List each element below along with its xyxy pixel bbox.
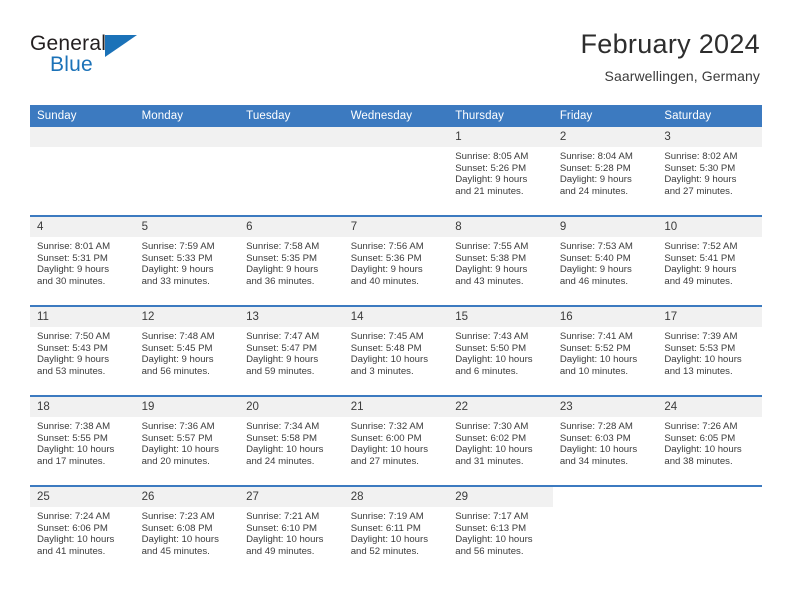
day-number (30, 127, 135, 147)
day-detail-line: Sunrise: 7:32 AM (351, 421, 443, 433)
calendar-day-cell-empty (135, 127, 240, 215)
day-detail-line: Sunset: 5:57 PM (142, 433, 234, 445)
day-number: 9 (553, 217, 658, 237)
calendar-day-cell-empty (239, 127, 344, 215)
calendar-cell (657, 486, 762, 575)
day-details: Sunrise: 7:53 AMSunset: 5:40 PMDaylight:… (553, 237, 658, 287)
day-number: 12 (135, 307, 240, 327)
calendar-cell: 24Sunrise: 7:26 AMSunset: 6:05 PMDayligh… (657, 396, 762, 486)
weekday-header-saturday: Saturday (657, 105, 762, 127)
day-detail-line: and 40 minutes. (351, 276, 443, 288)
day-detail-line: Sunrise: 7:19 AM (351, 511, 443, 523)
title-block: February 2024 Saarwellingen, Germany (580, 28, 760, 86)
day-details: Sunrise: 7:39 AMSunset: 5:53 PMDaylight:… (657, 327, 762, 377)
day-detail-line: Sunset: 6:03 PM (560, 433, 652, 445)
calendar-week-row: 11Sunrise: 7:50 AMSunset: 5:43 PMDayligh… (30, 306, 762, 396)
day-detail-line: and 49 minutes. (664, 276, 756, 288)
day-detail-line: and 27 minutes. (351, 456, 443, 468)
calendar-cell: 2Sunrise: 8:04 AMSunset: 5:28 PMDaylight… (553, 127, 658, 216)
day-details: Sunrise: 7:48 AMSunset: 5:45 PMDaylight:… (135, 327, 240, 377)
calendar-day-cell[interactable]: 8Sunrise: 7:55 AMSunset: 5:38 PMDaylight… (448, 217, 553, 305)
calendar-cell: 23Sunrise: 7:28 AMSunset: 6:03 PMDayligh… (553, 396, 658, 486)
day-detail-line: Daylight: 10 hours (246, 534, 338, 546)
day-detail-line: Daylight: 10 hours (664, 354, 756, 366)
day-number (135, 127, 240, 147)
calendar-cell: 6Sunrise: 7:58 AMSunset: 5:35 PMDaylight… (239, 216, 344, 306)
day-detail-line: Daylight: 10 hours (142, 444, 234, 456)
day-number: 11 (30, 307, 135, 327)
day-number: 22 (448, 397, 553, 417)
calendar-cell: 16Sunrise: 7:41 AMSunset: 5:52 PMDayligh… (553, 306, 658, 396)
day-detail-line: Daylight: 10 hours (560, 444, 652, 456)
calendar-header-row: SundayMondayTuesdayWednesdayThursdayFrid… (30, 105, 762, 127)
day-detail-line: Sunset: 6:02 PM (455, 433, 547, 445)
day-detail-line: Sunrise: 7:48 AM (142, 331, 234, 343)
day-details: Sunrise: 7:52 AMSunset: 5:41 PMDaylight:… (657, 237, 762, 287)
weekday-header-wednesday: Wednesday (344, 105, 449, 127)
day-detail-line: Sunrise: 7:38 AM (37, 421, 129, 433)
day-detail-line: Sunset: 6:08 PM (142, 523, 234, 535)
calendar-cell: 9Sunrise: 7:53 AMSunset: 5:40 PMDaylight… (553, 216, 658, 306)
calendar-day-cell[interactable]: 7Sunrise: 7:56 AMSunset: 5:36 PMDaylight… (344, 217, 449, 305)
day-number-blank (553, 487, 658, 507)
day-detail-line: Sunset: 6:11 PM (351, 523, 443, 535)
day-detail-line: Sunrise: 7:43 AM (455, 331, 547, 343)
day-detail-line: Daylight: 10 hours (142, 534, 234, 546)
brand-logo[interactable]: General Blue (30, 32, 140, 88)
calendar-day-cell[interactable]: 23Sunrise: 7:28 AMSunset: 6:03 PMDayligh… (553, 397, 658, 485)
day-detail-line: and 13 minutes. (664, 366, 756, 378)
day-number: 4 (30, 217, 135, 237)
day-detail-line: Sunset: 5:35 PM (246, 253, 338, 265)
day-detail-line: Daylight: 10 hours (455, 534, 547, 546)
day-detail-line: Daylight: 9 hours (455, 264, 547, 276)
day-number: 24 (657, 397, 762, 417)
page-subtitle: Saarwellingen, Germany (580, 66, 760, 86)
day-detail-line: Daylight: 9 hours (37, 264, 129, 276)
day-detail-line: and 59 minutes. (246, 366, 338, 378)
day-details: Sunrise: 7:59 AMSunset: 5:33 PMDaylight:… (135, 237, 240, 287)
day-detail-line: Sunset: 5:31 PM (37, 253, 129, 265)
calendar-day-cell-empty (344, 127, 449, 215)
day-detail-line: Daylight: 9 hours (246, 354, 338, 366)
calendar-day-cell[interactable]: 1Sunrise: 8:05 AMSunset: 5:26 PMDaylight… (448, 127, 553, 215)
calendar-cell: 26Sunrise: 7:23 AMSunset: 6:08 PMDayligh… (135, 486, 240, 575)
day-detail-line: Sunrise: 7:26 AM (664, 421, 756, 433)
day-details: Sunrise: 7:26 AMSunset: 6:05 PMDaylight:… (657, 417, 762, 467)
day-number: 6 (239, 217, 344, 237)
day-detail-line: Sunrise: 7:17 AM (455, 511, 547, 523)
day-number: 5 (135, 217, 240, 237)
calendar-day-cell[interactable]: 21Sunrise: 7:32 AMSunset: 6:00 PMDayligh… (344, 397, 449, 485)
day-details: Sunrise: 7:45 AMSunset: 5:48 PMDaylight:… (344, 327, 449, 377)
calendar-day-cell[interactable]: 16Sunrise: 7:41 AMSunset: 5:52 PMDayligh… (553, 307, 658, 395)
calendar-day-cell-empty (30, 127, 135, 215)
day-detail-line: Sunset: 6:13 PM (455, 523, 547, 535)
calendar-day-cell[interactable]: 4Sunrise: 8:01 AMSunset: 5:31 PMDaylight… (30, 217, 135, 305)
day-number: 25 (30, 487, 135, 507)
day-detail-line: and 49 minutes. (246, 546, 338, 558)
calendar-cell: 28Sunrise: 7:19 AMSunset: 6:11 PMDayligh… (344, 486, 449, 575)
day-number (239, 127, 344, 147)
weekday-header-thursday: Thursday (448, 105, 553, 127)
day-detail-line: and 21 minutes. (455, 186, 547, 198)
page-title: February 2024 (580, 28, 760, 60)
day-detail-line: Sunrise: 7:52 AM (664, 241, 756, 253)
day-detail-line: Daylight: 9 hours (664, 264, 756, 276)
day-detail-line: Sunrise: 7:45 AM (351, 331, 443, 343)
day-detail-line: Sunset: 5:26 PM (455, 163, 547, 175)
day-details: Sunrise: 8:05 AMSunset: 5:26 PMDaylight:… (448, 147, 553, 197)
day-detail-line: Daylight: 9 hours (142, 354, 234, 366)
day-detail-line: and 24 minutes. (560, 186, 652, 198)
day-detail-line: and 27 minutes. (664, 186, 756, 198)
day-details: Sunrise: 7:36 AMSunset: 5:57 PMDaylight:… (135, 417, 240, 467)
calendar-cell: 22Sunrise: 7:30 AMSunset: 6:02 PMDayligh… (448, 396, 553, 486)
day-detail-line: Sunset: 5:36 PM (351, 253, 443, 265)
day-number: 7 (344, 217, 449, 237)
day-detail-line: Sunset: 6:05 PM (664, 433, 756, 445)
calendar-cell: 10Sunrise: 7:52 AMSunset: 5:41 PMDayligh… (657, 216, 762, 306)
day-details: Sunrise: 7:34 AMSunset: 5:58 PMDaylight:… (239, 417, 344, 467)
day-detail-line: Daylight: 10 hours (37, 444, 129, 456)
day-details: Sunrise: 8:01 AMSunset: 5:31 PMDaylight:… (30, 237, 135, 287)
day-detail-line: Sunset: 5:47 PM (246, 343, 338, 355)
day-detail-line: Sunrise: 7:23 AM (142, 511, 234, 523)
day-detail-line: Sunrise: 8:04 AM (560, 151, 652, 163)
day-detail-line: and 30 minutes. (37, 276, 129, 288)
calendar-day-cell[interactable]: 19Sunrise: 7:36 AMSunset: 5:57 PMDayligh… (135, 397, 240, 485)
calendar-day-cell-empty (657, 487, 762, 575)
calendar-cell: 18Sunrise: 7:38 AMSunset: 5:55 PMDayligh… (30, 396, 135, 486)
day-detail-line: and 56 minutes. (455, 546, 547, 558)
calendar-cell: 19Sunrise: 7:36 AMSunset: 5:57 PMDayligh… (135, 396, 240, 486)
weekday-header-friday: Friday (553, 105, 658, 127)
day-details: Sunrise: 7:55 AMSunset: 5:38 PMDaylight:… (448, 237, 553, 287)
day-detail-line: Sunrise: 7:53 AM (560, 241, 652, 253)
day-detail-line: Daylight: 10 hours (351, 354, 443, 366)
day-detail-line: Sunset: 5:45 PM (142, 343, 234, 355)
weekday-header-tuesday: Tuesday (239, 105, 344, 127)
calendar-cell: 29Sunrise: 7:17 AMSunset: 6:13 PMDayligh… (448, 486, 553, 575)
weekday-headers: SundayMondayTuesdayWednesdayThursdayFrid… (30, 105, 762, 127)
day-number: 3 (657, 127, 762, 147)
day-detail-line: Daylight: 9 hours (664, 174, 756, 186)
calendar-day-cell[interactable]: 13Sunrise: 7:47 AMSunset: 5:47 PMDayligh… (239, 307, 344, 395)
calendar-day-cell[interactable]: 29Sunrise: 7:17 AMSunset: 6:13 PMDayligh… (448, 487, 553, 575)
calendar-cell (344, 127, 449, 216)
day-detail-line: Daylight: 9 hours (455, 174, 547, 186)
day-number: 10 (657, 217, 762, 237)
calendar-body: 1Sunrise: 8:05 AMSunset: 5:26 PMDaylight… (30, 127, 762, 575)
day-details: Sunrise: 7:41 AMSunset: 5:52 PMDaylight:… (553, 327, 658, 377)
day-details: Sunrise: 7:24 AMSunset: 6:06 PMDaylight:… (30, 507, 135, 557)
day-detail-line: Sunrise: 7:21 AM (246, 511, 338, 523)
calendar-day-cell[interactable]: 25Sunrise: 7:24 AMSunset: 6:06 PMDayligh… (30, 487, 135, 575)
day-number: 16 (553, 307, 658, 327)
day-detail-line: and 43 minutes. (455, 276, 547, 288)
day-detail-line: Sunrise: 8:02 AM (664, 151, 756, 163)
day-details: Sunrise: 7:56 AMSunset: 5:36 PMDaylight:… (344, 237, 449, 287)
day-detail-line: Sunrise: 7:55 AM (455, 241, 547, 253)
day-number (344, 127, 449, 147)
day-details: Sunrise: 7:21 AMSunset: 6:10 PMDaylight:… (239, 507, 344, 557)
day-detail-line: Sunrise: 7:30 AM (455, 421, 547, 433)
day-detail-line: Sunset: 5:28 PM (560, 163, 652, 175)
day-detail-line: Sunset: 5:55 PM (37, 433, 129, 445)
day-details: Sunrise: 8:02 AMSunset: 5:30 PMDaylight:… (657, 147, 762, 197)
day-detail-line: Daylight: 9 hours (142, 264, 234, 276)
day-detail-line: and 36 minutes. (246, 276, 338, 288)
day-detail-line: and 45 minutes. (142, 546, 234, 558)
day-detail-line: Daylight: 9 hours (351, 264, 443, 276)
calendar-cell: 8Sunrise: 7:55 AMSunset: 5:38 PMDaylight… (448, 216, 553, 306)
calendar-week-row: 4Sunrise: 8:01 AMSunset: 5:31 PMDaylight… (30, 216, 762, 306)
calendar-day-cell[interactable]: 15Sunrise: 7:43 AMSunset: 5:50 PMDayligh… (448, 307, 553, 395)
day-details: Sunrise: 7:32 AMSunset: 6:00 PMDaylight:… (344, 417, 449, 467)
calendar-cell: 1Sunrise: 8:05 AMSunset: 5:26 PMDaylight… (448, 127, 553, 216)
day-details: Sunrise: 7:58 AMSunset: 5:35 PMDaylight:… (239, 237, 344, 287)
calendar-week-row: 18Sunrise: 7:38 AMSunset: 5:55 PMDayligh… (30, 396, 762, 486)
day-detail-line: Sunset: 5:43 PM (37, 343, 129, 355)
day-detail-line: and 6 minutes. (455, 366, 547, 378)
day-detail-line: Daylight: 9 hours (246, 264, 338, 276)
day-detail-line: and 56 minutes. (142, 366, 234, 378)
day-number: 1 (448, 127, 553, 147)
calendar-cell: 13Sunrise: 7:47 AMSunset: 5:47 PMDayligh… (239, 306, 344, 396)
calendar-cell: 11Sunrise: 7:50 AMSunset: 5:43 PMDayligh… (30, 306, 135, 396)
calendar-day-cell[interactable]: 22Sunrise: 7:30 AMSunset: 6:02 PMDayligh… (448, 397, 553, 485)
day-detail-line: Sunset: 5:50 PM (455, 343, 547, 355)
day-details: Sunrise: 7:23 AMSunset: 6:08 PMDaylight:… (135, 507, 240, 557)
calendar-day-cell[interactable]: 27Sunrise: 7:21 AMSunset: 6:10 PMDayligh… (239, 487, 344, 575)
day-detail-line: Sunrise: 7:39 AM (664, 331, 756, 343)
day-detail-line: Daylight: 10 hours (455, 444, 547, 456)
calendar-day-cell[interactable]: 17Sunrise: 7:39 AMSunset: 5:53 PMDayligh… (657, 307, 762, 395)
day-detail-line: and 53 minutes. (37, 366, 129, 378)
day-number: 2 (553, 127, 658, 147)
day-detail-line: Daylight: 9 hours (560, 264, 652, 276)
calendar-cell (239, 127, 344, 216)
day-details: Sunrise: 7:17 AMSunset: 6:13 PMDaylight:… (448, 507, 553, 557)
page-header: General Blue February 2024 Saarwellingen… (30, 28, 760, 96)
day-detail-line: Sunset: 5:53 PM (664, 343, 756, 355)
day-detail-line: and 17 minutes. (37, 456, 129, 468)
day-detail-line: Sunrise: 7:24 AM (37, 511, 129, 523)
day-detail-line: Daylight: 10 hours (351, 444, 443, 456)
day-number: 28 (344, 487, 449, 507)
day-detail-line: Sunset: 6:06 PM (37, 523, 129, 535)
calendar-day-cell[interactable]: 20Sunrise: 7:34 AMSunset: 5:58 PMDayligh… (239, 397, 344, 485)
day-detail-line: Sunrise: 8:05 AM (455, 151, 547, 163)
calendar-day-cell[interactable]: 2Sunrise: 8:04 AMSunset: 5:28 PMDaylight… (553, 127, 658, 215)
calendar-cell: 27Sunrise: 7:21 AMSunset: 6:10 PMDayligh… (239, 486, 344, 575)
calendar-cell: 21Sunrise: 7:32 AMSunset: 6:00 PMDayligh… (344, 396, 449, 486)
day-number: 15 (448, 307, 553, 327)
day-detail-line: and 41 minutes. (37, 546, 129, 558)
day-detail-line: Sunset: 5:40 PM (560, 253, 652, 265)
flag-triangle-icon (105, 35, 137, 57)
day-detail-line: Daylight: 10 hours (37, 534, 129, 546)
day-number: 27 (239, 487, 344, 507)
day-detail-line: Sunset: 5:48 PM (351, 343, 443, 355)
day-detail-line: Daylight: 9 hours (560, 174, 652, 186)
day-detail-line: and 24 minutes. (246, 456, 338, 468)
day-details: Sunrise: 7:50 AMSunset: 5:43 PMDaylight:… (30, 327, 135, 377)
calendar-cell: 20Sunrise: 7:34 AMSunset: 5:58 PMDayligh… (239, 396, 344, 486)
day-number: 19 (135, 397, 240, 417)
day-details: Sunrise: 7:28 AMSunset: 6:03 PMDaylight:… (553, 417, 658, 467)
calendar-day-cell[interactable]: 24Sunrise: 7:26 AMSunset: 6:05 PMDayligh… (657, 397, 762, 485)
day-detail-line: Sunset: 5:58 PM (246, 433, 338, 445)
day-detail-line: Sunrise: 7:41 AM (560, 331, 652, 343)
calendar-day-cell[interactable]: 28Sunrise: 7:19 AMSunset: 6:11 PMDayligh… (344, 487, 449, 575)
calendar-day-cell[interactable]: 9Sunrise: 7:53 AMSunset: 5:40 PMDaylight… (553, 217, 658, 305)
calendar-week-row: 25Sunrise: 7:24 AMSunset: 6:06 PMDayligh… (30, 486, 762, 575)
day-detail-line: and 20 minutes. (142, 456, 234, 468)
day-detail-line: and 34 minutes. (560, 456, 652, 468)
calendar-day-cell[interactable]: 14Sunrise: 7:45 AMSunset: 5:48 PMDayligh… (344, 307, 449, 395)
day-detail-line: Sunset: 5:52 PM (560, 343, 652, 355)
day-number-blank (657, 487, 762, 507)
calendar-day-cell[interactable]: 11Sunrise: 7:50 AMSunset: 5:43 PMDayligh… (30, 307, 135, 395)
day-detail-line: and 31 minutes. (455, 456, 547, 468)
calendar-day-cell-empty (553, 487, 658, 575)
calendar-day-cell[interactable]: 3Sunrise: 8:02 AMSunset: 5:30 PMDaylight… (657, 127, 762, 215)
calendar-cell: 14Sunrise: 7:45 AMSunset: 5:48 PMDayligh… (344, 306, 449, 396)
day-detail-line: and 38 minutes. (664, 456, 756, 468)
day-number: 13 (239, 307, 344, 327)
calendar-day-cell[interactable]: 12Sunrise: 7:48 AMSunset: 5:45 PMDayligh… (135, 307, 240, 395)
day-detail-line: Daylight: 10 hours (455, 354, 547, 366)
day-detail-line: Sunset: 6:10 PM (246, 523, 338, 535)
day-detail-line: Sunset: 5:30 PM (664, 163, 756, 175)
calendar-day-cell[interactable]: 6Sunrise: 7:58 AMSunset: 5:35 PMDaylight… (239, 217, 344, 305)
day-details: Sunrise: 7:38 AMSunset: 5:55 PMDaylight:… (30, 417, 135, 467)
day-detail-line: Sunrise: 7:36 AM (142, 421, 234, 433)
day-detail-line: Sunset: 5:41 PM (664, 253, 756, 265)
day-details: Sunrise: 7:30 AMSunset: 6:02 PMDaylight:… (448, 417, 553, 467)
calendar-day-cell[interactable]: 5Sunrise: 7:59 AMSunset: 5:33 PMDaylight… (135, 217, 240, 305)
calendar-cell: 7Sunrise: 7:56 AMSunset: 5:36 PMDaylight… (344, 216, 449, 306)
day-number: 29 (448, 487, 553, 507)
calendar-cell: 12Sunrise: 7:48 AMSunset: 5:45 PMDayligh… (135, 306, 240, 396)
day-detail-line: and 52 minutes. (351, 546, 443, 558)
day-detail-line: Sunrise: 7:58 AM (246, 241, 338, 253)
day-detail-line: Daylight: 9 hours (37, 354, 129, 366)
day-detail-line: and 3 minutes. (351, 366, 443, 378)
day-detail-line: Sunrise: 7:47 AM (246, 331, 338, 343)
day-number: 17 (657, 307, 762, 327)
calendar-cell: 17Sunrise: 7:39 AMSunset: 5:53 PMDayligh… (657, 306, 762, 396)
day-detail-line: and 10 minutes. (560, 366, 652, 378)
calendar-cell (553, 486, 658, 575)
day-detail-line: Sunrise: 7:34 AM (246, 421, 338, 433)
calendar-cell: 4Sunrise: 8:01 AMSunset: 5:31 PMDaylight… (30, 216, 135, 306)
day-detail-line: Sunrise: 7:59 AM (142, 241, 234, 253)
day-detail-line: Sunrise: 8:01 AM (37, 241, 129, 253)
day-detail-line: Sunrise: 7:28 AM (560, 421, 652, 433)
day-number: 21 (344, 397, 449, 417)
calendar-day-cell[interactable]: 10Sunrise: 7:52 AMSunset: 5:41 PMDayligh… (657, 217, 762, 305)
day-number: 26 (135, 487, 240, 507)
day-details: Sunrise: 7:19 AMSunset: 6:11 PMDaylight:… (344, 507, 449, 557)
calendar-cell: 15Sunrise: 7:43 AMSunset: 5:50 PMDayligh… (448, 306, 553, 396)
day-details: Sunrise: 7:47 AMSunset: 5:47 PMDaylight:… (239, 327, 344, 377)
brand-name-blue: Blue (50, 53, 93, 77)
day-detail-line: Daylight: 10 hours (560, 354, 652, 366)
day-number: 8 (448, 217, 553, 237)
calendar-cell: 3Sunrise: 8:02 AMSunset: 5:30 PMDaylight… (657, 127, 762, 216)
calendar-day-cell[interactable]: 18Sunrise: 7:38 AMSunset: 5:55 PMDayligh… (30, 397, 135, 485)
day-number: 20 (239, 397, 344, 417)
calendar-week-row: 1Sunrise: 8:05 AMSunset: 5:26 PMDaylight… (30, 127, 762, 216)
day-detail-line: and 33 minutes. (142, 276, 234, 288)
day-number: 14 (344, 307, 449, 327)
day-detail-line: Sunrise: 7:56 AM (351, 241, 443, 253)
calendar-cell: 25Sunrise: 7:24 AMSunset: 6:06 PMDayligh… (30, 486, 135, 575)
calendar-cell (135, 127, 240, 216)
calendar-cell: 5Sunrise: 7:59 AMSunset: 5:33 PMDaylight… (135, 216, 240, 306)
day-details: Sunrise: 7:43 AMSunset: 5:50 PMDaylight:… (448, 327, 553, 377)
day-detail-line: Sunset: 5:38 PM (455, 253, 547, 265)
calendar-table: SundayMondayTuesdayWednesdayThursdayFrid… (30, 105, 762, 575)
day-number: 23 (553, 397, 658, 417)
day-detail-line: Daylight: 10 hours (664, 444, 756, 456)
day-number: 18 (30, 397, 135, 417)
calendar-day-cell[interactable]: 26Sunrise: 7:23 AMSunset: 6:08 PMDayligh… (135, 487, 240, 575)
day-detail-line: Sunrise: 7:50 AM (37, 331, 129, 343)
day-detail-line: Sunset: 6:00 PM (351, 433, 443, 445)
day-detail-line: Sunset: 5:33 PM (142, 253, 234, 265)
day-details: Sunrise: 8:04 AMSunset: 5:28 PMDaylight:… (553, 147, 658, 197)
calendar-page: General Blue February 2024 Saarwellingen… (0, 0, 792, 612)
day-detail-line: Daylight: 10 hours (351, 534, 443, 546)
calendar-cell (30, 127, 135, 216)
weekday-header-monday: Monday (135, 105, 240, 127)
day-detail-line: and 46 minutes. (560, 276, 652, 288)
day-detail-line: Daylight: 10 hours (246, 444, 338, 456)
weekday-header-sunday: Sunday (30, 105, 135, 127)
